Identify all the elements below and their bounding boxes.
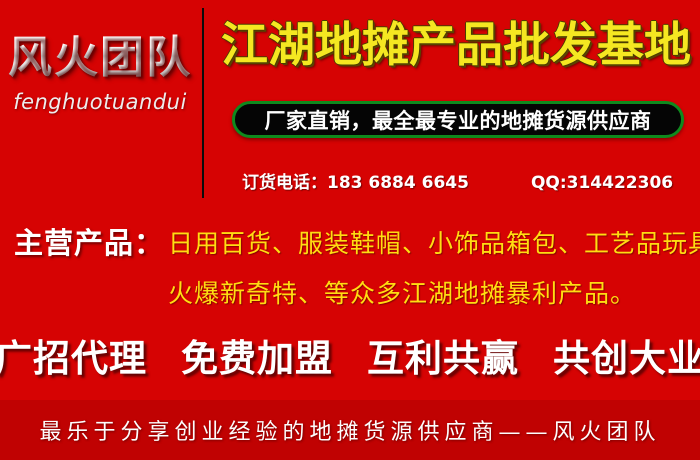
- slogan-badge: 厂家直销，最全最专业的地摊货源供应商: [232, 101, 684, 138]
- brand-logo-block: 风火团队 fenghuotuandui: [0, 30, 200, 160]
- advertisement-banner: 风火团队 fenghuotuandui 江湖地摊产品批发基地 厂家直销，最全最专…: [0, 0, 700, 460]
- products-line-1: 日用百货、服装鞋帽、小饰品箱包、工艺品玩具、: [168, 224, 700, 260]
- header-column: 江湖地摊产品批发基地 厂家直销，最全最专业的地摊货源供应商 订货电话：183 6…: [212, 0, 700, 205]
- slogan-item-1: 广招代理: [0, 328, 147, 382]
- footer-strip: 最乐于分享创业经验的地摊货源供应商——风火团队: [0, 400, 700, 460]
- footer-tagline: 最乐于分享创业经验的地摊货源供应商——风火团队: [39, 414, 660, 446]
- brand-name-pinyin: fenghuotuandui: [0, 90, 200, 114]
- brand-name-chinese: 风火团队: [0, 30, 200, 80]
- products-section: 主营产品： 日用百货、服装鞋帽、小饰品箱包、工艺品玩具、 火爆新奇特、等众多江湖…: [0, 216, 700, 316]
- products-label: 主营产品：: [14, 220, 164, 262]
- contact-row: 订货电话：183 6884 6645 QQ:314422306: [242, 168, 682, 193]
- products-line-2: 火爆新奇特、等众多江湖地摊暴利产品。: [168, 274, 636, 310]
- vertical-divider: [202, 8, 204, 198]
- contact-phone: 订货电话：183 6884 6645: [242, 168, 469, 193]
- slogan-item-4: 共创大业: [553, 328, 700, 382]
- slogan-badge-text: 厂家直销，最全最专业的地摊货源供应商: [265, 105, 652, 135]
- contact-qq: QQ:314422306: [531, 173, 673, 193]
- page-title: 江湖地摊产品批发基地: [212, 22, 700, 69]
- slogan-item-2: 免费加盟: [181, 328, 333, 382]
- slogan-item-3: 互利共赢: [367, 328, 519, 382]
- slogan-row: 广招代理 免费加盟 互利共赢 共创大业: [0, 328, 700, 382]
